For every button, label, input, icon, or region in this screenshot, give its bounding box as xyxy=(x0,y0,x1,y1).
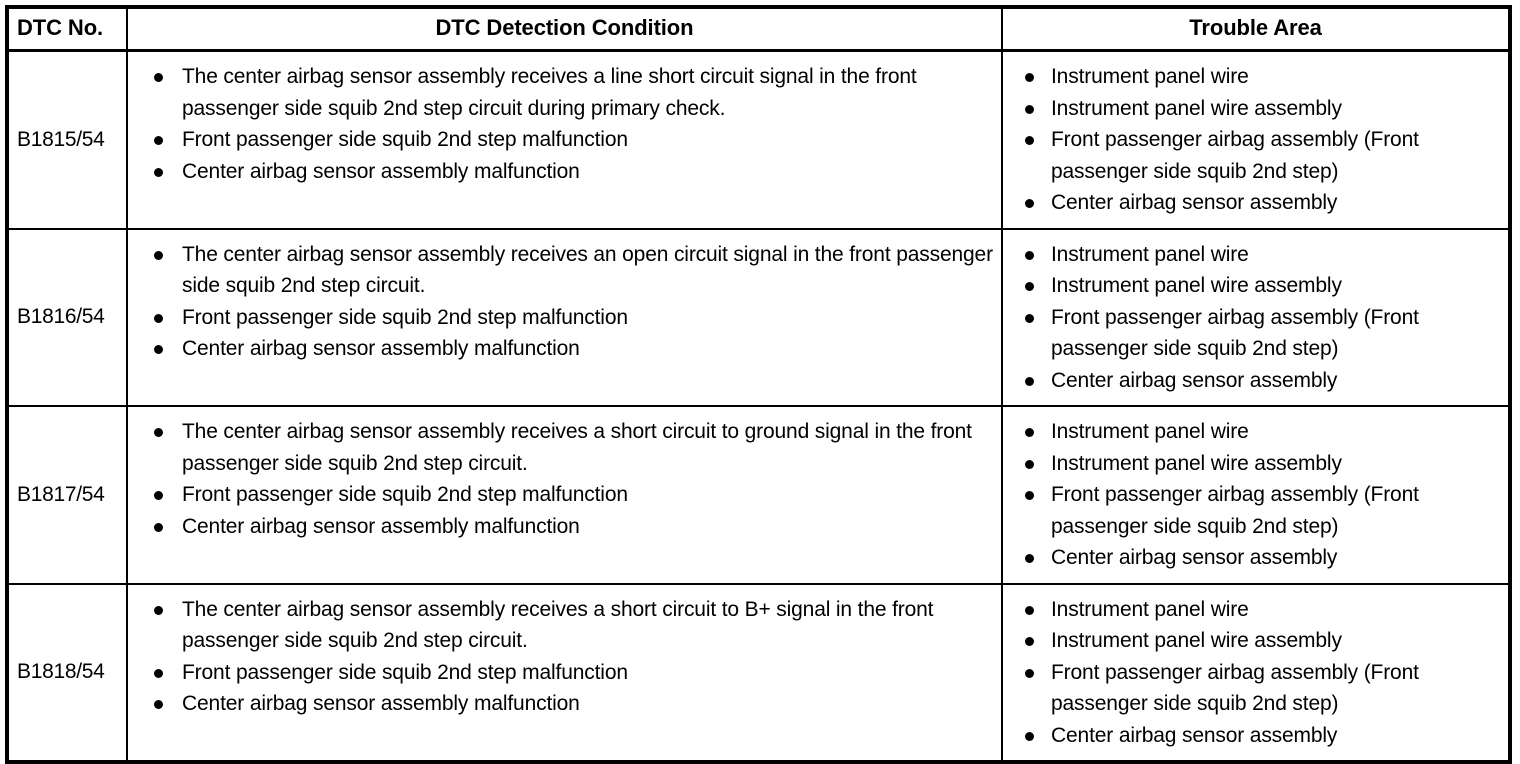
cell-dtc-no: B1818/54 xyxy=(7,584,127,763)
cell-trouble-area: Instrument panel wireInstrument panel wi… xyxy=(1002,406,1510,584)
bullet-list: The center airbag sensor assembly receiv… xyxy=(128,416,995,542)
bullet-list: Instrument panel wireInstrument panel wi… xyxy=(1003,61,1502,219)
table-row: B1817/54The center airbag sensor assembl… xyxy=(7,406,1510,584)
trouble-area-item: Front passenger airbag assembly (Front p… xyxy=(1003,124,1502,187)
bullet-list: Instrument panel wireInstrument panel wi… xyxy=(1003,594,1502,752)
column-header-dtc-no: DTC No. xyxy=(7,7,127,51)
table-row: B1816/54The center airbag sensor assembl… xyxy=(7,229,1510,407)
trouble-area-item: Instrument panel wire xyxy=(1003,61,1502,93)
trouble-area-item: Center airbag sensor assembly xyxy=(1003,542,1502,574)
trouble-area-item: Instrument panel wire xyxy=(1003,594,1502,626)
trouble-area-item: Instrument panel wire xyxy=(1003,416,1502,448)
dtc-table: DTC No. DTC Detection Condition Trouble … xyxy=(5,5,1512,764)
table-row: B1818/54The center airbag sensor assembl… xyxy=(7,584,1510,763)
cell-detection-condition: The center airbag sensor assembly receiv… xyxy=(127,406,1002,584)
detection-condition-item: Center airbag sensor assembly malfunctio… xyxy=(128,511,995,543)
trouble-area-item: Instrument panel wire assembly xyxy=(1003,625,1502,657)
detection-condition-item: Front passenger side squib 2nd step malf… xyxy=(128,479,995,511)
detection-condition-item: The center airbag sensor assembly receiv… xyxy=(128,61,995,124)
cell-trouble-area: Instrument panel wireInstrument panel wi… xyxy=(1002,51,1510,229)
trouble-area-item: Instrument panel wire xyxy=(1003,239,1502,271)
table-header: DTC No. DTC Detection Condition Trouble … xyxy=(7,7,1510,51)
header-row: DTC No. DTC Detection Condition Trouble … xyxy=(7,7,1510,51)
trouble-area-item: Front passenger airbag assembly (Front p… xyxy=(1003,302,1502,365)
bullet-list: Instrument panel wireInstrument panel wi… xyxy=(1003,239,1502,397)
cell-detection-condition: The center airbag sensor assembly receiv… xyxy=(127,229,1002,407)
detection-condition-item: The center airbag sensor assembly receiv… xyxy=(128,594,995,657)
column-header-trouble-area: Trouble Area xyxy=(1002,7,1510,51)
detection-condition-item: The center airbag sensor assembly receiv… xyxy=(128,239,995,302)
cell-dtc-no: B1817/54 xyxy=(7,406,127,584)
trouble-area-item: Center airbag sensor assembly xyxy=(1003,187,1502,219)
detection-condition-item: Front passenger side squib 2nd step malf… xyxy=(128,124,995,156)
trouble-area-item: Front passenger airbag assembly (Front p… xyxy=(1003,657,1502,720)
cell-detection-condition: The center airbag sensor assembly receiv… xyxy=(127,584,1002,763)
cell-detection-condition: The center airbag sensor assembly receiv… xyxy=(127,51,1002,229)
trouble-area-item: Center airbag sensor assembly xyxy=(1003,720,1502,752)
detection-condition-item: Center airbag sensor assembly malfunctio… xyxy=(128,333,995,365)
detection-condition-item: Front passenger side squib 2nd step malf… xyxy=(128,302,995,334)
trouble-area-item: Instrument panel wire assembly xyxy=(1003,270,1502,302)
detection-condition-item: The center airbag sensor assembly receiv… xyxy=(128,416,995,479)
detection-condition-item: Front passenger side squib 2nd step malf… xyxy=(128,657,995,689)
trouble-area-item: Instrument panel wire assembly xyxy=(1003,93,1502,125)
table-body: B1815/54The center airbag sensor assembl… xyxy=(7,51,1510,763)
page-sheet: DTC No. DTC Detection Condition Trouble … xyxy=(0,0,1520,738)
trouble-area-item: Center airbag sensor assembly xyxy=(1003,365,1502,397)
trouble-area-item: Front passenger airbag assembly (Front p… xyxy=(1003,479,1502,542)
trouble-area-item: Instrument panel wire assembly xyxy=(1003,448,1502,480)
detection-condition-item: Center airbag sensor assembly malfunctio… xyxy=(128,156,995,188)
bullet-list: Instrument panel wireInstrument panel wi… xyxy=(1003,416,1502,574)
table-row: B1815/54The center airbag sensor assembl… xyxy=(7,51,1510,229)
cell-trouble-area: Instrument panel wireInstrument panel wi… xyxy=(1002,229,1510,407)
column-header-detection-condition: DTC Detection Condition xyxy=(127,7,1002,51)
bullet-list: The center airbag sensor assembly receiv… xyxy=(128,239,995,365)
bullet-list: The center airbag sensor assembly receiv… xyxy=(128,594,995,720)
bullet-list: The center airbag sensor assembly receiv… xyxy=(128,61,995,187)
detection-condition-item: Center airbag sensor assembly malfunctio… xyxy=(128,688,995,720)
cell-trouble-area: Instrument panel wireInstrument panel wi… xyxy=(1002,584,1510,763)
cell-dtc-no: B1816/54 xyxy=(7,229,127,407)
cell-dtc-no: B1815/54 xyxy=(7,51,127,229)
